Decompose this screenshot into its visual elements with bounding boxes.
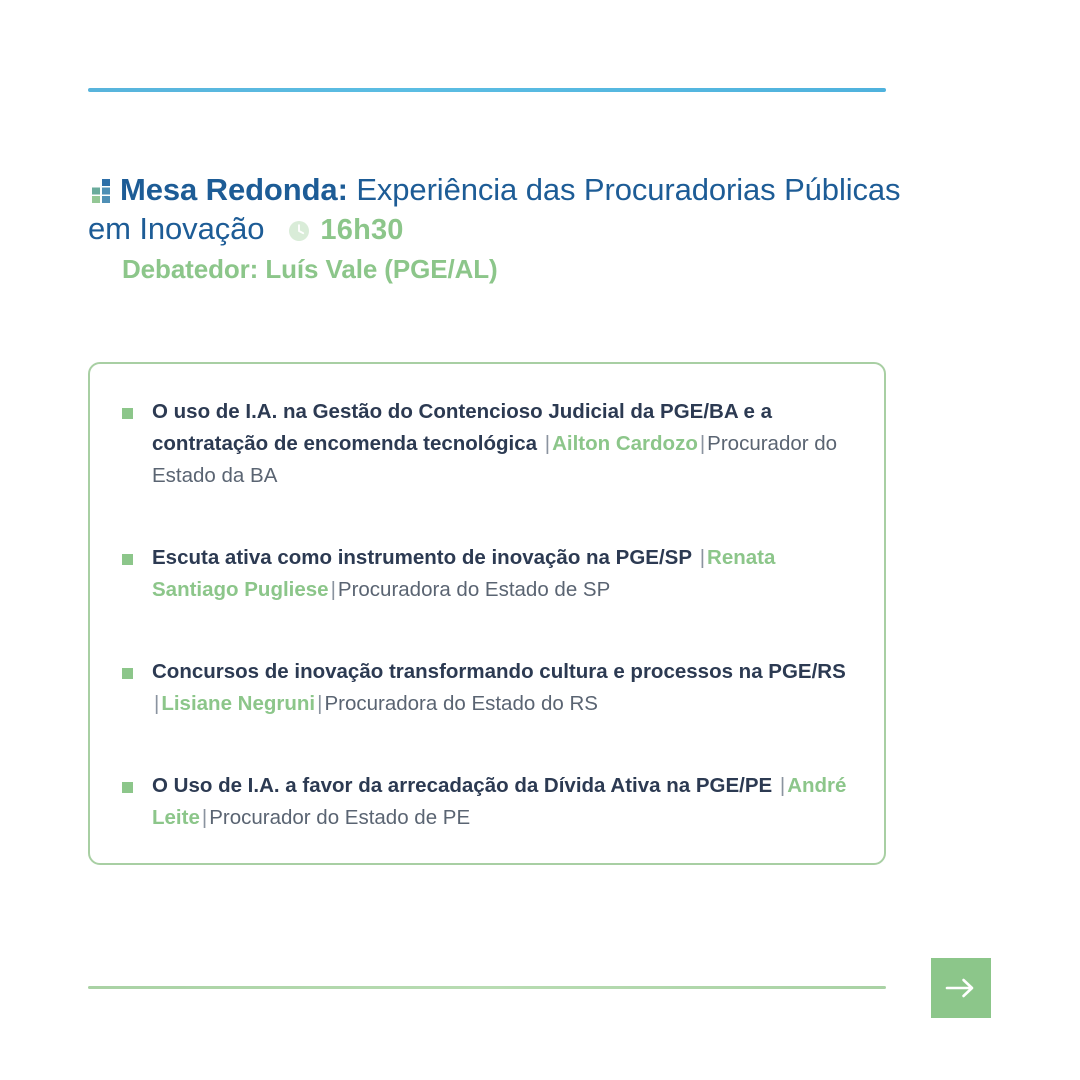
- separator: |: [200, 806, 209, 829]
- square-bullet-icon: [122, 408, 133, 419]
- session-time-text: 16h30: [320, 214, 403, 246]
- slide-header: Mesa Redonda: Experiência das Procurador…: [88, 170, 918, 285]
- separator: |: [329, 578, 338, 601]
- list-item: O uso de I.A. na Gestão do Contencioso J…: [120, 396, 854, 492]
- square-bullet-icon: [122, 554, 133, 565]
- session-speaker: Ailton Cardozo: [552, 432, 698, 455]
- arrow-right-icon: [941, 975, 981, 1001]
- separator: |: [543, 432, 552, 455]
- separator: |: [698, 432, 707, 455]
- sessions-panel: O uso de I.A. na Gestão do Contencioso J…: [88, 362, 886, 865]
- square-bullet-icon: [122, 782, 133, 793]
- title-block: Mesa Redonda: Experiência das Procurador…: [88, 170, 918, 248]
- square-bullet-icon: [122, 668, 133, 679]
- session-title: O Uso de I.A. a favor da arrecadação da …: [152, 774, 772, 797]
- top-divider: [88, 88, 886, 92]
- session-title: Escuta ativa como instrumento de inovaçã…: [152, 546, 692, 569]
- session-text: Escuta ativa como instrumento de inovaçã…: [152, 546, 775, 601]
- bottom-divider: [88, 986, 886, 989]
- pixel-grid-icon: [88, 179, 114, 203]
- session-text: O Uso de I.A. a favor da arrecadação da …: [152, 774, 846, 829]
- list-item: Escuta ativa como instrumento de inovaçã…: [120, 542, 854, 606]
- session-role: Procuradora do Estado de SP: [338, 578, 610, 601]
- session-text: Concursos de inovação transformando cult…: [152, 660, 846, 715]
- separator: |: [778, 774, 787, 797]
- session-title: Concursos de inovação transformando cult…: [152, 660, 846, 683]
- separator: |: [698, 546, 707, 569]
- session-time: 16h30: [288, 214, 403, 247]
- session-speaker: Lisiane Negruni: [161, 692, 315, 715]
- clock-icon: [288, 220, 310, 242]
- separator: |: [152, 692, 161, 715]
- list-item: O Uso de I.A. a favor da arrecadação da …: [120, 770, 854, 834]
- sessions-list: O uso de I.A. na Gestão do Contencioso J…: [120, 396, 854, 834]
- page-subtitle: Debatedor: Luís Vale (PGE/AL): [122, 254, 918, 285]
- list-item: Concursos de inovação transformando cult…: [120, 656, 854, 720]
- slide-canvas: Mesa Redonda: Experiência das Procurador…: [0, 0, 1080, 1080]
- session-role: Procuradora do Estado do RS: [324, 692, 598, 715]
- next-slide-button[interactable]: [931, 958, 991, 1018]
- session-role: Procurador do Estado de PE: [209, 806, 470, 829]
- page-title-label: Mesa Redonda:: [120, 172, 348, 207]
- session-text: O uso de I.A. na Gestão do Contencioso J…: [152, 400, 837, 487]
- page-title: Mesa Redonda: Experiência das Procurador…: [88, 172, 900, 246]
